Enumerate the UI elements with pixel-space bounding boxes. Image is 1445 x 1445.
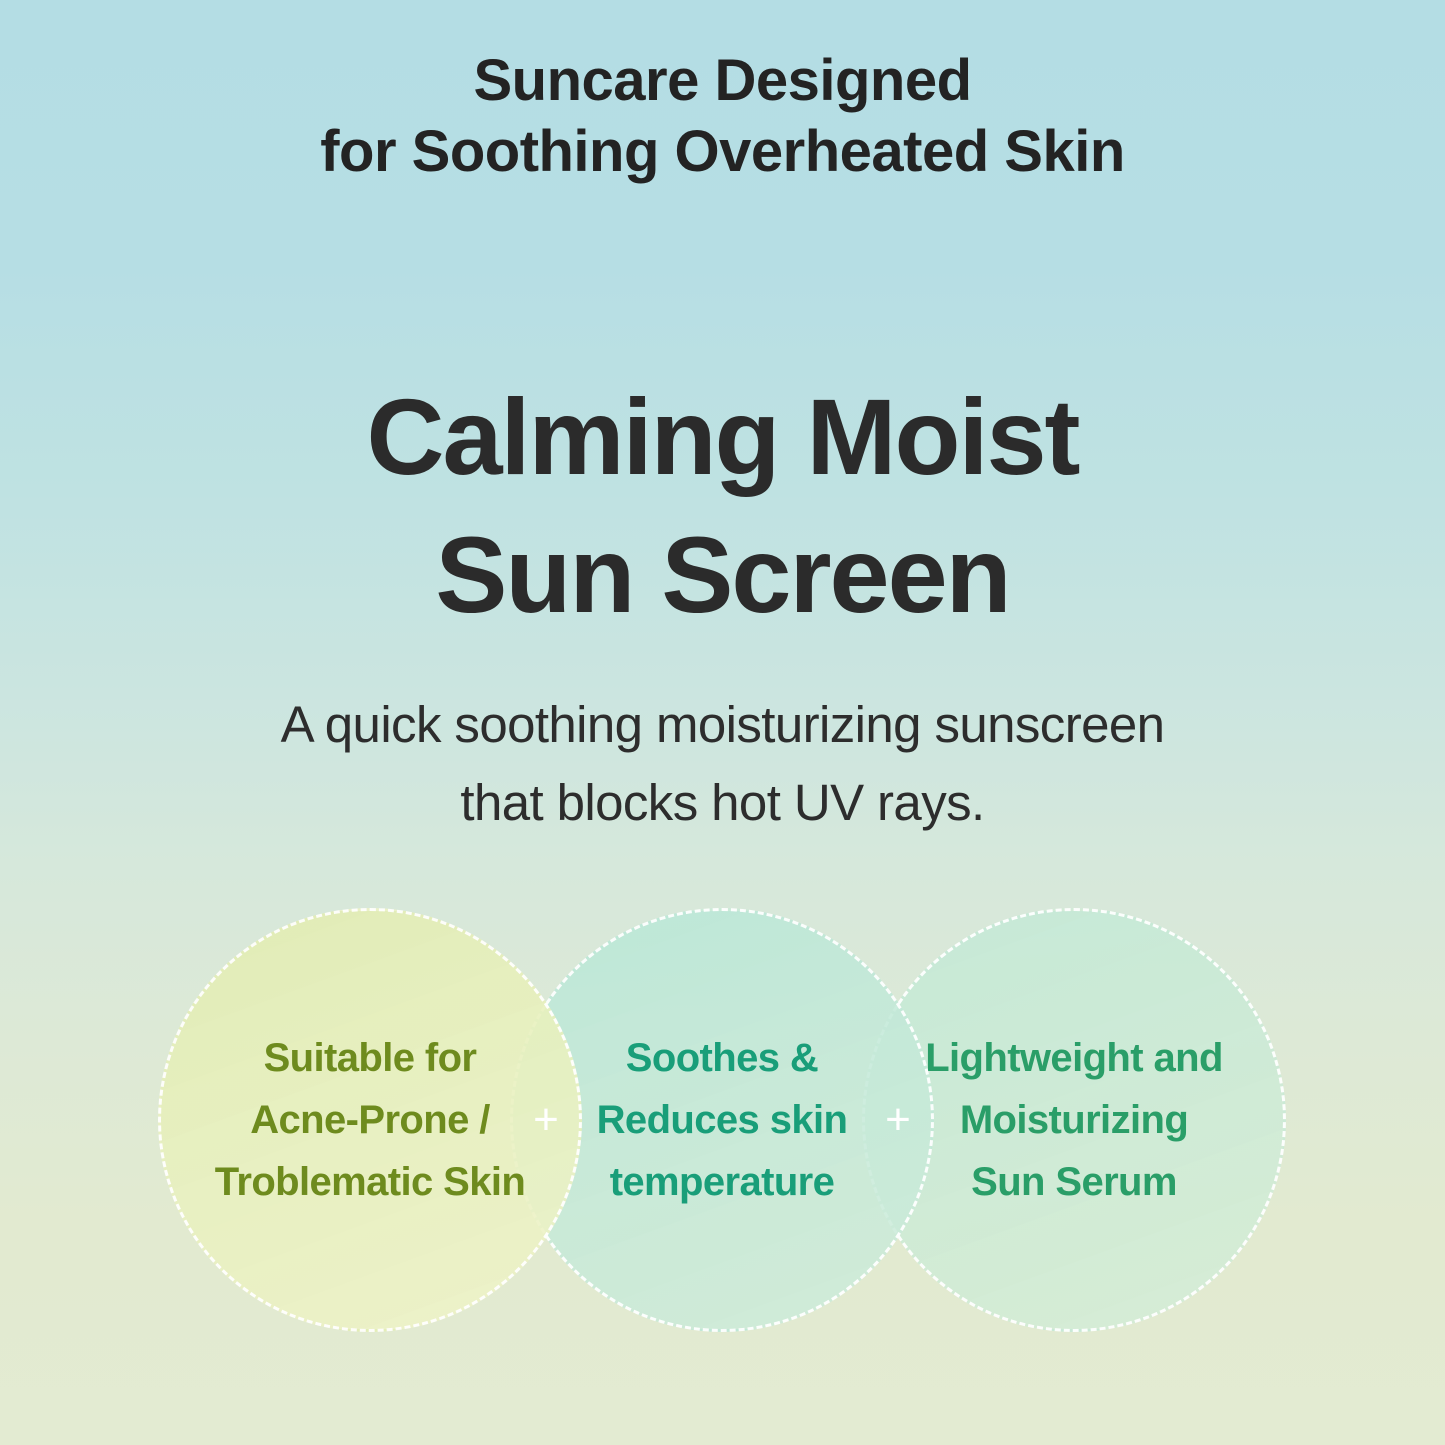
benefit-1-line-2: Acne-Prone /	[215, 1089, 526, 1151]
benefit-3-line-2: Moisturizing	[925, 1089, 1223, 1151]
benefit-label-soothes-temperature: Soothes & Reduces skin temperature	[597, 1027, 848, 1213]
plus-icon: +	[533, 1098, 559, 1142]
product-banner: Suncare Designed for Soothing Overheated…	[0, 0, 1445, 1445]
benefit-label-acne-prone: Suitable for Acne-Prone / Troblematic Sk…	[215, 1027, 526, 1213]
product-title-line-1: Calming Moist	[0, 368, 1445, 506]
product-description: A quick soothing moisturizing sunscreen …	[0, 686, 1445, 841]
benefit-2-line-3: temperature	[597, 1151, 848, 1213]
benefit-circle-acne-prone: Suitable for Acne-Prone / Troblematic Sk…	[158, 908, 582, 1332]
benefit-label-lightweight-serum: Lightweight and Moisturizing Sun Serum	[925, 1027, 1223, 1213]
product-title-line-2: Sun Screen	[0, 506, 1445, 644]
benefit-2-line-1: Soothes &	[597, 1027, 848, 1089]
eyebrow-line-2: for Soothing Overheated Skin	[0, 117, 1445, 188]
benefit-3-line-1: Lightweight and	[925, 1027, 1223, 1089]
benefit-1-line-3: Troblematic Skin	[215, 1151, 526, 1213]
page-title: Calming Moist Sun Screen	[0, 368, 1445, 644]
plus-icon: +	[885, 1098, 911, 1142]
description-line-2: that blocks hot UV rays.	[0, 764, 1445, 842]
benefit-2-line-2: Reduces skin	[597, 1089, 848, 1151]
eyebrow-line-1: Suncare Designed	[0, 46, 1445, 117]
benefits-venn-diagram: Suitable for Acne-Prone / Troblematic Sk…	[158, 908, 1286, 1332]
eyebrow-heading: Suncare Designed for Soothing Overheated…	[0, 46, 1445, 188]
benefit-1-line-1: Suitable for	[215, 1027, 526, 1089]
description-line-1: A quick soothing moisturizing sunscreen	[0, 686, 1445, 764]
benefit-3-line-3: Sun Serum	[925, 1151, 1223, 1213]
